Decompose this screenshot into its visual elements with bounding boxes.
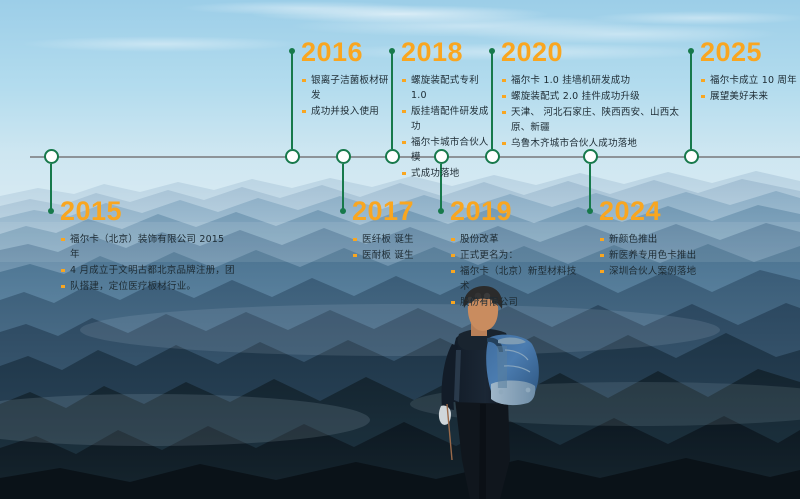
timeline-year-2025: 2025	[700, 39, 798, 66]
timeline-entry-2024: 2024 新颜色推出 新医养专用色卡推出 深圳合伙人案例落地	[599, 198, 729, 280]
list-item: 正式更名为：	[450, 248, 580, 263]
list-item: 螺旋装配式 2.0 挂件成功升级	[501, 89, 691, 104]
timeline-year-2017: 2017	[352, 198, 447, 225]
timeline-year-2015: 2015	[60, 198, 235, 225]
timeline-bullets-2019: 股份改革 正式更名为： 福尔卡（北京）新型材料技术 股份有限公司	[450, 232, 580, 310]
timeline-entry-2020: 2020 福尔卡 1.0 挂墙机研发成功 螺旋装配式 2.0 挂件成功升级 天津…	[501, 39, 691, 152]
list-item: 福尔卡成立 10 周年	[700, 73, 798, 88]
timeline-entry-2015: 2015 福尔卡（北京）装饰有限公司 2015 年 4 月成立于文明古都北京品牌…	[60, 198, 235, 295]
list-item-cont: 4 月成立于文明古都北京品牌注册，团	[60, 263, 235, 278]
timeline-bullets-2025: 福尔卡成立 10 周年 展望美好未来	[700, 73, 798, 104]
timeline-bullets-2017: 医纤板 诞生 医耐板 诞生	[352, 232, 447, 263]
timeline-bullets-2015: 福尔卡（北京）装饰有限公司 2015 年 4 月成立于文明古都北京品牌注册，团 …	[60, 232, 235, 294]
timeline-node-2016[interactable]	[285, 149, 300, 164]
list-item: 福尔卡（北京）装饰有限公司 2015 年	[60, 232, 235, 262]
list-item-cont: 式成功落地	[401, 166, 496, 181]
list-item-cont: 股份有限公司	[450, 295, 580, 310]
list-item-cont: 队搭建，定位医疗板材行业。	[60, 279, 235, 294]
list-item: 新医养专用色卡推出	[599, 248, 729, 263]
list-item: 医纤板 诞生	[352, 232, 447, 247]
list-item: 新颜色推出	[599, 232, 729, 247]
list-item: 福尔卡 1.0 挂墙机研发成功	[501, 73, 691, 88]
timeline-bullets-2018: 螺旋装配式专利 1.0 版挂墙配件研发成功 福尔卡城市合伙人模 式成功落地	[401, 73, 496, 181]
timeline-entry-2025: 2025 福尔卡成立 10 周年 展望美好未来	[700, 39, 798, 105]
timeline-stem-2016	[291, 50, 293, 149]
timeline-year-2018: 2018	[401, 39, 496, 66]
stem-tip-icon	[340, 208, 346, 214]
list-item: 螺旋装配式专利 1.0	[401, 73, 496, 103]
timeline-entry-2019: 2019 股份改革 正式更名为： 福尔卡（北京）新型材料技术 股份有限公司	[450, 198, 580, 311]
timeline-entry-2016: 2016 银离子洁菌板材研发 成功并投入使用	[301, 39, 393, 120]
timeline-stem-2024	[589, 164, 591, 212]
timeline-node-2015[interactable]	[44, 149, 59, 164]
timeline-year-2020: 2020	[501, 39, 691, 66]
timeline-bullets-2020: 福尔卡 1.0 挂墙机研发成功 螺旋装配式 2.0 挂件成功升级 天津、 河北石…	[501, 73, 691, 151]
list-item-cont: 福尔卡（北京）新型材料技术	[450, 264, 580, 294]
list-item-cont: 版挂墙配件研发成功	[401, 104, 496, 134]
list-item: 展望美好未来	[700, 89, 798, 104]
list-item: 股份改革	[450, 232, 580, 247]
timeline-year-2016: 2016	[301, 39, 393, 66]
timeline-infographic: 2015 福尔卡（北京）装饰有限公司 2015 年 4 月成立于文明古都北京品牌…	[0, 0, 800, 499]
list-item: 银离子洁菌板材研发	[301, 73, 393, 103]
timeline-node-2017[interactable]	[336, 149, 351, 164]
timeline-entry-2017: 2017 医纤板 诞生 医耐板 诞生	[352, 198, 447, 264]
stem-tip-icon	[48, 208, 54, 214]
timeline-stem-2017	[342, 164, 344, 212]
list-item-cont: 成功并投入使用	[301, 104, 393, 119]
list-item-cont: 乌鲁木齐城市合伙人成功落地	[501, 136, 691, 151]
stem-tip-icon	[289, 48, 295, 54]
timeline-bullets-2024: 新颜色推出 新医养专用色卡推出 深圳合伙人案例落地	[599, 232, 729, 279]
timeline-year-2019: 2019	[450, 198, 580, 225]
timeline-year-2024: 2024	[599, 198, 729, 225]
stem-tip-icon	[587, 208, 593, 214]
list-item: 天津、 河北石家庄、陕西西安、山西太原、新疆	[501, 105, 691, 135]
timeline-entry-2018: 2018 螺旋装配式专利 1.0 版挂墙配件研发成功 福尔卡城市合伙人模 式成功…	[401, 39, 496, 182]
timeline-bullets-2016: 银离子洁菌板材研发 成功并投入使用	[301, 73, 393, 119]
list-item: 深圳合伙人案例落地	[599, 264, 729, 279]
timeline-node-2018[interactable]	[385, 149, 400, 164]
list-item: 福尔卡城市合伙人模	[401, 135, 496, 165]
list-item: 医耐板 诞生	[352, 248, 447, 263]
timeline-stem-2015	[50, 164, 52, 212]
